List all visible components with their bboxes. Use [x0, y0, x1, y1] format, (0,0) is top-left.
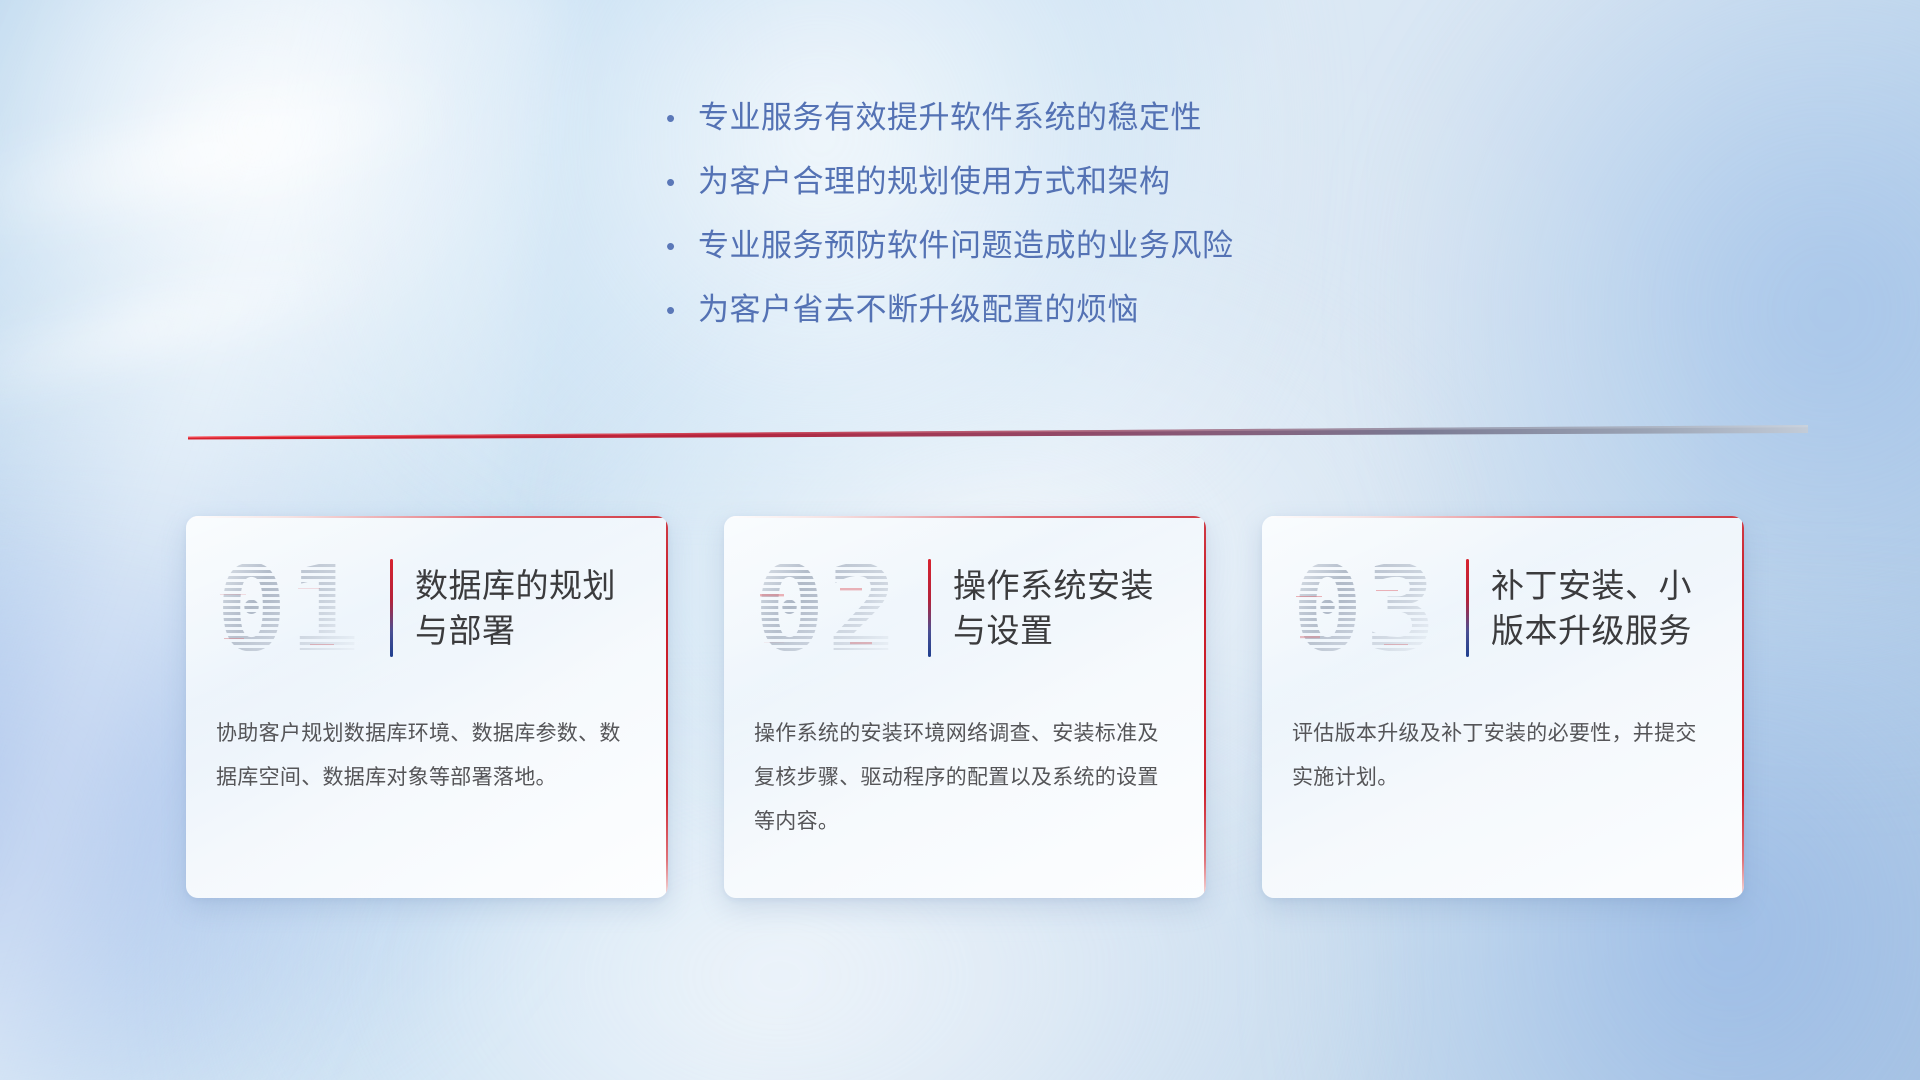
card-header: 01 数据库的规划与部署	[186, 538, 668, 678]
card-description: 操作系统的安装环境网络调查、安装标准及复核步骤、驱动程序的配置以及系统的设置等内…	[754, 712, 1174, 844]
benefits-bullet-list: • 专业服务有效提升软件系统的稳定性 • 为客户合理的规划使用方式和架构 • 专…	[660, 98, 1560, 354]
card-number-01-graphic: 01	[214, 546, 384, 670]
bullet-item-1: • 专业服务有效提升软件系统的稳定性	[660, 98, 1560, 162]
card-divider-bar	[1466, 559, 1469, 657]
svg-text:02: 02	[754, 546, 900, 670]
card-top-accent	[724, 516, 1206, 518]
bullet-item-2: • 为客户合理的规划使用方式和架构	[660, 162, 1560, 226]
svg-text:03: 03	[1292, 546, 1438, 670]
card-title: 数据库的规划与部署	[415, 563, 647, 653]
svg-text:01: 01	[216, 546, 362, 670]
card-title: 操作系统安装与设置	[953, 563, 1185, 653]
card-header: 02 操作系统安装与设置	[724, 538, 1206, 678]
bullet-dot-icon: •	[660, 98, 698, 138]
section-divider	[188, 425, 1808, 441]
card-header: 03 补丁安装、小版本升级服务	[1262, 538, 1744, 678]
bullet-dot-icon: •	[660, 226, 698, 266]
bullet-label: 为客户合理的规划使用方式和架构	[698, 162, 1171, 202]
card-number-02-graphic: 02	[752, 546, 922, 670]
card-divider-bar	[928, 559, 931, 657]
bullet-label: 专业服务有效提升软件系统的稳定性	[698, 98, 1202, 138]
bullet-dot-icon: •	[660, 162, 698, 202]
service-card-02[interactable]: 02 操作系统安装与设置 操作系统的安装环境网络调查、安装标准及复核步骤	[724, 516, 1206, 898]
card-top-accent	[186, 516, 668, 518]
bullet-dot-icon: •	[660, 290, 698, 330]
card-description: 评估版本升级及补丁安装的必要性，并提交实施计划。	[1292, 712, 1712, 800]
bullet-label: 专业服务预防软件问题造成的业务风险	[698, 226, 1234, 266]
card-title: 补丁安装、小版本升级服务	[1491, 563, 1723, 653]
slide-content: • 专业服务有效提升软件系统的稳定性 • 为客户合理的规划使用方式和架构 • 专…	[0, 0, 1920, 1080]
card-divider-bar	[390, 559, 393, 657]
card-top-accent	[1262, 516, 1744, 518]
bullet-item-4: • 为客户省去不断升级配置的烦恼	[660, 290, 1560, 354]
bullet-label: 为客户省去不断升级配置的烦恼	[698, 290, 1139, 330]
service-card-03[interactable]: 03 补丁安装、小版本升级服务 评估版本升级及补丁安装的必要性，并提交实	[1262, 516, 1744, 898]
card-number-03-graphic: 03	[1290, 546, 1460, 670]
bullet-item-3: • 专业服务预防软件问题造成的业务风险	[660, 226, 1560, 290]
service-card-01[interactable]: 01 数据库的规划与部署 协助客户规划数据库环境、数据库参数、数据库空间	[186, 516, 668, 898]
card-description: 协助客户规划数据库环境、数据库参数、数据库空间、数据库对象等部署落地。	[216, 712, 636, 800]
service-cards-row: 01 数据库的规划与部署 协助客户规划数据库环境、数据库参数、数据库空间	[186, 516, 1746, 916]
